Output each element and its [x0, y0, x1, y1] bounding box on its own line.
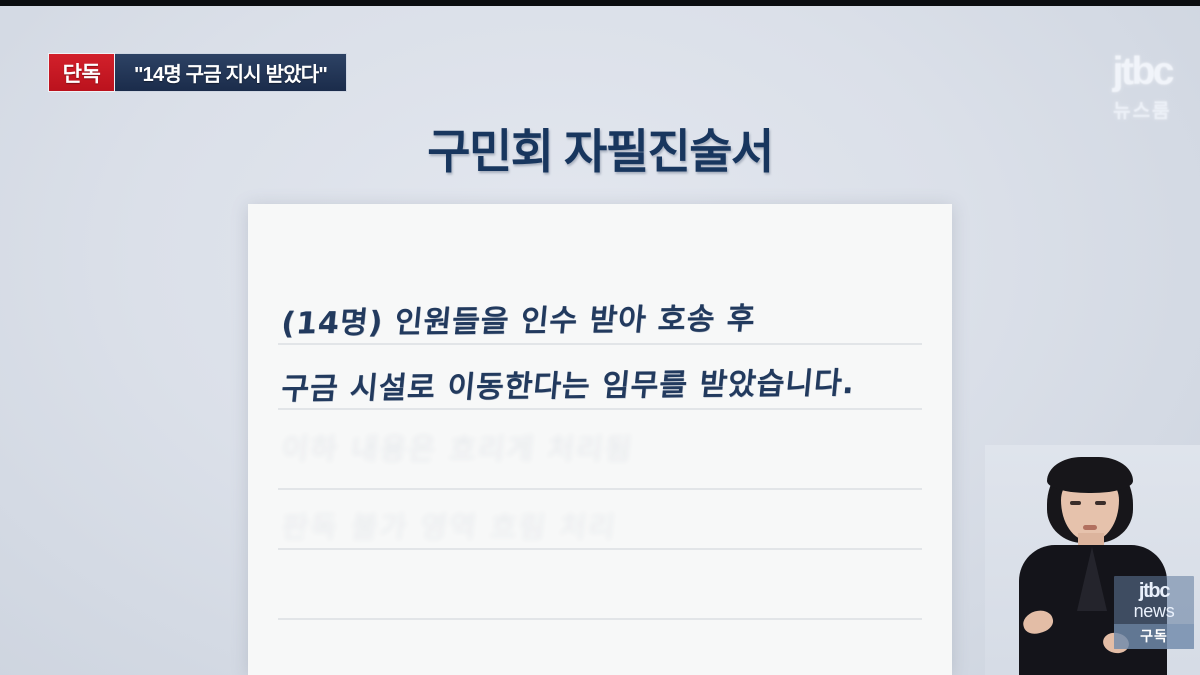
anchor-fringe [1047, 457, 1133, 493]
statement-document: (14명) 인원들을 인수 받아 호송 후 구금 시설로 이동한다는 임무를 받… [248, 204, 952, 675]
ruled-line [278, 408, 922, 410]
jtbc-logo-icon: jtbc [1113, 52, 1172, 91]
handwritten-line-2: 구금 시설로 이동한다는 임무를 받았습니다. [280, 358, 858, 408]
handwritten-line-1: (14명) 인원들을 인수 받아 호송 후 [280, 294, 758, 343]
lower-third-strip: 단독 "14명 구금 지시 받았다" [48, 53, 347, 92]
ruled-line [278, 548, 922, 550]
letterbox-bar [0, 0, 1200, 6]
subscribe-watermark[interactable]: jtbc news 구독 [1114, 576, 1194, 649]
ruled-line [278, 488, 922, 490]
news-label: news [1114, 602, 1194, 621]
headline-text: "14명 구금 지시 받았다" [115, 53, 347, 92]
anchor-eye-left [1070, 501, 1081, 505]
anchor-mouth [1083, 525, 1097, 530]
ruled-line [278, 343, 922, 345]
handwritten-line-3-redacted: 이하 내용은 흐리게 처리됨 [280, 426, 636, 468]
jtbc-logo-icon: jtbc [1114, 581, 1194, 601]
ruled-line [278, 618, 922, 620]
anchor-eye-right [1095, 501, 1106, 505]
subscribe-button[interactable]: 구독 [1114, 624, 1194, 649]
handwritten-line-4-redacted: 판독 불가 영역 흐림 처리 [280, 504, 620, 546]
broadcast-frame: 단독 "14명 구금 지시 받았다" jtbc 뉴스룸 구민회 자필진술서 (1… [0, 0, 1200, 675]
page-title: 구민회 자필진술서 [0, 113, 1200, 182]
exclusive-badge: 단독 [48, 53, 115, 92]
